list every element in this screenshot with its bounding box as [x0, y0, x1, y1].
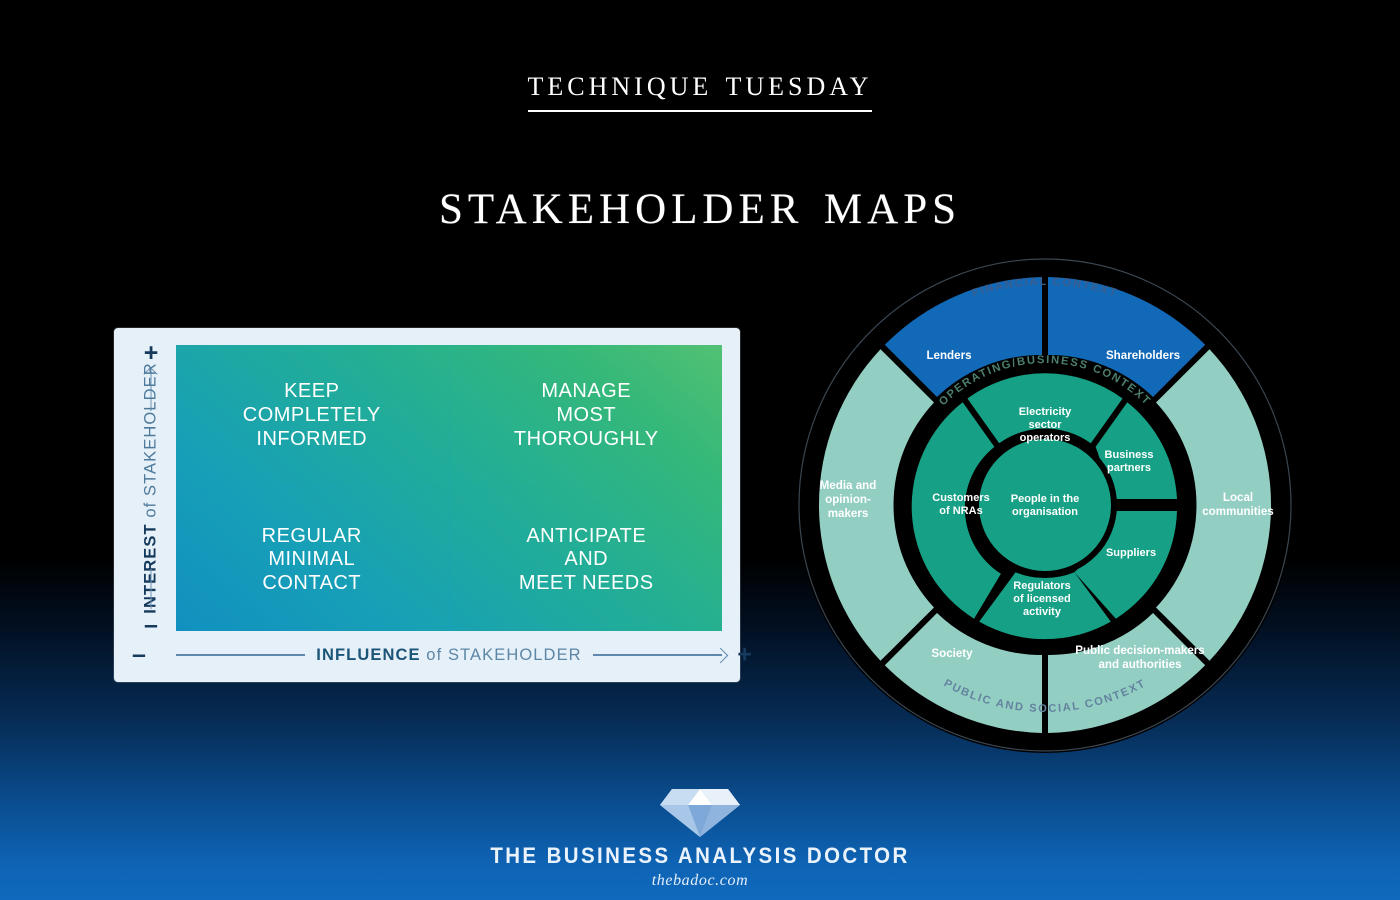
y-axis-label-light: of STAKEHOLDER: [142, 362, 160, 523]
x-axis-label-bold: INFLUENCE: [316, 646, 420, 664]
outer-label-society: Society: [931, 647, 973, 660]
x-axis-label: INFLUENCE of STAKEHOLDER: [305, 646, 592, 665]
outer-label-media-and-opinion-makers: Media andopinion-makers: [820, 479, 877, 520]
quadrant-regular-minimal-contact[interactable]: REGULAR MINIMAL CONTACT: [176, 490, 448, 632]
quadrant-keep-completely-informed[interactable]: KEEP COMPLETELY INFORMED: [176, 345, 448, 487]
inner-label-customers-of-nras: Customersof NRAs: [932, 492, 989, 517]
footer-branding: THE BUSINESS ANALYSIS DOCTOR thebadoc.co…: [0, 785, 1400, 890]
x-axis-arrow-icon: [713, 648, 729, 664]
outer-label-lenders: Lenders: [926, 349, 971, 362]
quadrant-manage-most-thoroughly[interactable]: MANAGE MOST THOROUGHLY: [451, 345, 723, 487]
stakeholder-wheel: FINANCIAL CONTEXT OPERATING/BUSINESS CON…: [765, 255, 1325, 755]
quadrant-label: REGULAR MINIMAL CONTACT: [262, 525, 362, 596]
inner-label-business-partners: Businesspartners: [1105, 449, 1154, 474]
wheel-center-disc[interactable]: [979, 439, 1111, 571]
x-axis-line-left: [176, 654, 305, 655]
quadrant-label: MANAGE MOST THOROUGHLY: [514, 380, 659, 451]
x-axis-line-right: [593, 654, 722, 655]
y-axis-minus: –: [144, 613, 158, 638]
outer-label-shareholders: Shareholders: [1106, 349, 1180, 362]
y-axis-line: [151, 569, 152, 609]
brand-name: THE BUSINESS ANALYSIS DOCTOR: [49, 843, 1351, 869]
center-label-people-in-the-organisation: People in theorganisation: [1011, 493, 1079, 518]
quadrant-label: ANTICIPATE AND MEET NEEDS: [519, 525, 654, 596]
x-axis: – INFLUENCE of STAKEHOLDER +: [176, 642, 722, 668]
inner-label-suppliers: Suppliers: [1106, 547, 1156, 559]
slide-canvas: Technique Tuesday Stakeholder Maps + INT…: [0, 0, 1400, 900]
x-axis-label-light: of STAKEHOLDER: [421, 646, 582, 664]
matrix-grid: KEEP COMPLETELY INFORMED MANAGE MOST THO…: [176, 345, 722, 631]
diamond-logo-icon: [652, 785, 748, 841]
y-axis: + INTEREST of STAKEHOLDER –: [131, 345, 171, 631]
quadrant-label: KEEP COMPLETELY INFORMED: [243, 380, 381, 451]
brand-url[interactable]: thebadoc.com: [0, 872, 1400, 890]
stakeholder-wheel-svg: FINANCIAL CONTEXT OPERATING/BUSINESS CON…: [765, 255, 1325, 755]
kicker-title: Technique Tuesday: [0, 62, 1400, 112]
x-axis-minus: –: [132, 643, 146, 668]
page-title: Stakeholder Maps: [0, 168, 1400, 239]
kicker-text: Technique Tuesday: [528, 62, 873, 112]
power-interest-matrix: + INTEREST of STAKEHOLDER – KEEP COMPLET…: [114, 328, 740, 682]
x-axis-plus: +: [737, 643, 752, 668]
quadrant-anticipate-and-meet-needs[interactable]: ANTICIPATE AND MEET NEEDS: [451, 490, 723, 632]
